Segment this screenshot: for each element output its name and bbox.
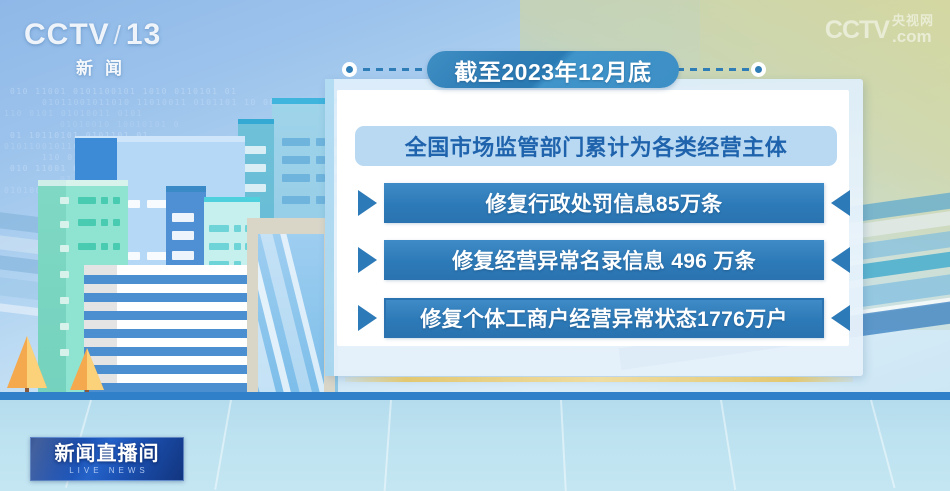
- window: [113, 243, 120, 250]
- window: [101, 243, 108, 250]
- window: [316, 174, 325, 182]
- arrow-left-icon: [831, 247, 850, 273]
- window: [60, 245, 69, 252]
- window: [172, 251, 194, 260]
- stat-row-1: 修复行政处罚信息85万条: [358, 183, 850, 223]
- window: [128, 252, 140, 260]
- window: [60, 297, 69, 304]
- window: [60, 221, 69, 228]
- arrow-right-icon: [358, 305, 377, 331]
- connector-line-left: [350, 68, 429, 71]
- watermark-com-text: .com: [892, 28, 934, 45]
- arrow-left-icon: [831, 305, 850, 331]
- arrow-right-icon: [358, 190, 377, 216]
- window: [244, 146, 266, 154]
- building-glass-tower-glass: [258, 234, 324, 400]
- window: [282, 196, 310, 204]
- window: [60, 349, 69, 356]
- ground-perspective-line: [560, 400, 567, 491]
- card-title-text: 截至2023年12月底: [454, 53, 651, 87]
- window: [209, 243, 229, 250]
- window: [244, 184, 266, 192]
- building-teal-tower-cap: [38, 180, 68, 186]
- card-subtitle-banner: 全国市场监管部门累计为各类经营主体: [355, 126, 837, 166]
- stat-row-3-text: 修复个体工商户经营异常状态1776万户: [420, 303, 787, 333]
- window: [78, 243, 96, 250]
- city-skyline-illustration: [0, 80, 360, 400]
- window: [282, 138, 310, 146]
- arrow-right-icon: [358, 247, 377, 273]
- window: [172, 231, 194, 240]
- window: [172, 213, 194, 222]
- building-mint-right-cap: [204, 197, 260, 202]
- window: [234, 225, 241, 232]
- window: [128, 200, 140, 208]
- building-striped-foreground: [84, 265, 247, 400]
- window: [101, 197, 108, 204]
- ground-perspective-line: [214, 400, 232, 490]
- watermark-cctv-text: CCTV: [825, 16, 889, 45]
- program-banner: 新闻直播间 LIVE NEWS: [30, 437, 184, 481]
- stat-row-2-bar: 修复经营异常名录信息 496 万条: [384, 240, 824, 280]
- program-banner-cn: 新闻直播间: [55, 444, 160, 464]
- ground-perspective-line: [870, 400, 895, 488]
- card-title-banner: 截至2023年12月底: [427, 51, 679, 88]
- window: [316, 196, 325, 204]
- card-subtitle-text: 全国市场监管部门累计为各类经营主体: [405, 130, 788, 162]
- window: [78, 219, 96, 226]
- window: [209, 225, 229, 232]
- stat-row-1-bar: 修复行政处罚信息85万条: [384, 183, 824, 223]
- cctv-wordmark: CCTV: [24, 18, 110, 52]
- watermark-right-group: 央视网 .com: [892, 14, 934, 45]
- cctv-com-watermark: CCTV 央视网 .com: [825, 14, 934, 45]
- broadcast-screenshot: 010 11001 0101100101 1010 0110101 01 010…: [0, 0, 950, 491]
- cctv-slash: /: [114, 20, 122, 51]
- stat-row-3: 修复个体工商户经营异常状态1776万户: [358, 298, 850, 338]
- window: [234, 243, 241, 250]
- stat-row-1-text: 修复行政处罚信息85万条: [486, 188, 723, 218]
- window: [282, 174, 310, 182]
- card-left-edge: [325, 79, 334, 376]
- window: [113, 197, 120, 204]
- cctv-channel-number: 13: [126, 18, 161, 52]
- ground-perspective-line: [384, 400, 392, 491]
- stat-row-3-bar: 修复个体工商户经营异常状态1776万户: [384, 298, 824, 338]
- window: [101, 219, 108, 226]
- stat-row-2: 修复经营异常名录信息 496 万条: [358, 240, 850, 280]
- tree-foliage-highlight: [27, 336, 47, 388]
- building-blue-tower-cap: [166, 186, 206, 192]
- window: [282, 156, 310, 164]
- building-back-right-dark-cap: [238, 119, 274, 124]
- window: [60, 197, 69, 204]
- program-banner-en: LIVE NEWS: [65, 467, 149, 475]
- window: [78, 197, 96, 204]
- card-gold-strip: [345, 377, 853, 382]
- watermark-cn-text: 央视网: [892, 14, 934, 27]
- channel-logo: CCTV / 13 新闻: [24, 18, 174, 79]
- channel-logo-row: CCTV / 13: [24, 18, 174, 52]
- connector-dot-left: [342, 62, 357, 77]
- arrow-left-icon: [831, 190, 850, 216]
- ground-perspective-line: [720, 400, 736, 490]
- tree-foliage-highlight: [87, 348, 104, 390]
- window: [244, 164, 266, 172]
- connector-dot-right: [751, 62, 766, 77]
- window: [60, 271, 69, 278]
- connector-line-right: [677, 68, 756, 71]
- window: [113, 219, 120, 226]
- window: [60, 323, 69, 330]
- stat-row-2-text: 修复经营异常名录信息 496 万条: [452, 245, 756, 275]
- window: [316, 156, 325, 164]
- cctv-channel-name: 新闻: [24, 54, 174, 79]
- building-mint-tower-cap: [66, 180, 128, 186]
- window: [316, 138, 325, 146]
